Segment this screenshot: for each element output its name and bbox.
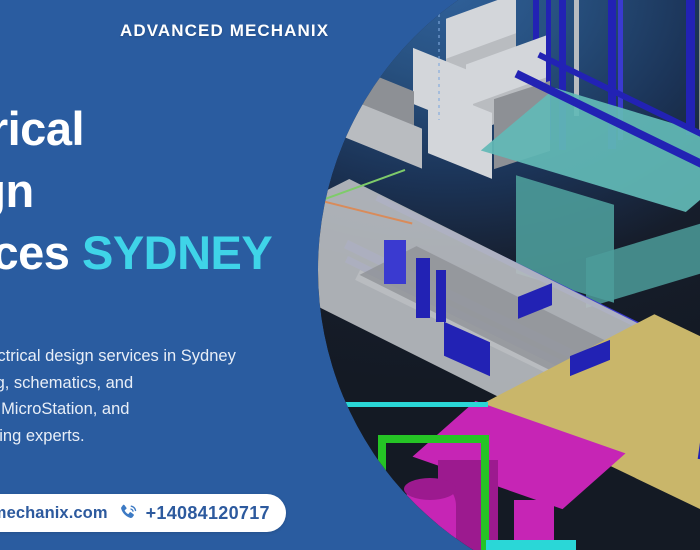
body-line-3: using AutoCAD, MicroStation, and <box>0 396 320 423</box>
cad-render-3d-model <box>318 0 700 550</box>
hero-circle <box>318 0 700 550</box>
headline-line-3-prefix: Services <box>0 226 69 279</box>
promo-banner: ADVANCED MECHANIX Electrical Design Serv… <box>0 0 700 550</box>
body-line-2: including drafting, schematics, and <box>0 370 320 397</box>
headline-line-2: Design <box>0 159 310 221</box>
contact-bar: www.advancedmechanix.com +14084120717 <box>0 494 286 532</box>
body-line-1: Professional electrical design services … <box>0 343 320 370</box>
brand-title: ADVANCED MECHANIX <box>120 21 329 41</box>
phone-call-icon <box>117 502 139 524</box>
headline-accent-sydney: SYDNEY <box>82 226 272 279</box>
headline-line-3: Services SYDNEY <box>0 221 310 283</box>
phone-number[interactable]: +14084120717 <box>146 503 270 524</box>
headline-line-1: Electrical <box>0 97 310 159</box>
body-copy: Professional electrical design services … <box>0 343 320 449</box>
website-link[interactable]: www.advancedmechanix.com <box>0 504 108 523</box>
page-title: Electrical Design Services SYDNEY <box>0 97 310 283</box>
body-line-4: trusted engineering experts. <box>0 423 320 450</box>
